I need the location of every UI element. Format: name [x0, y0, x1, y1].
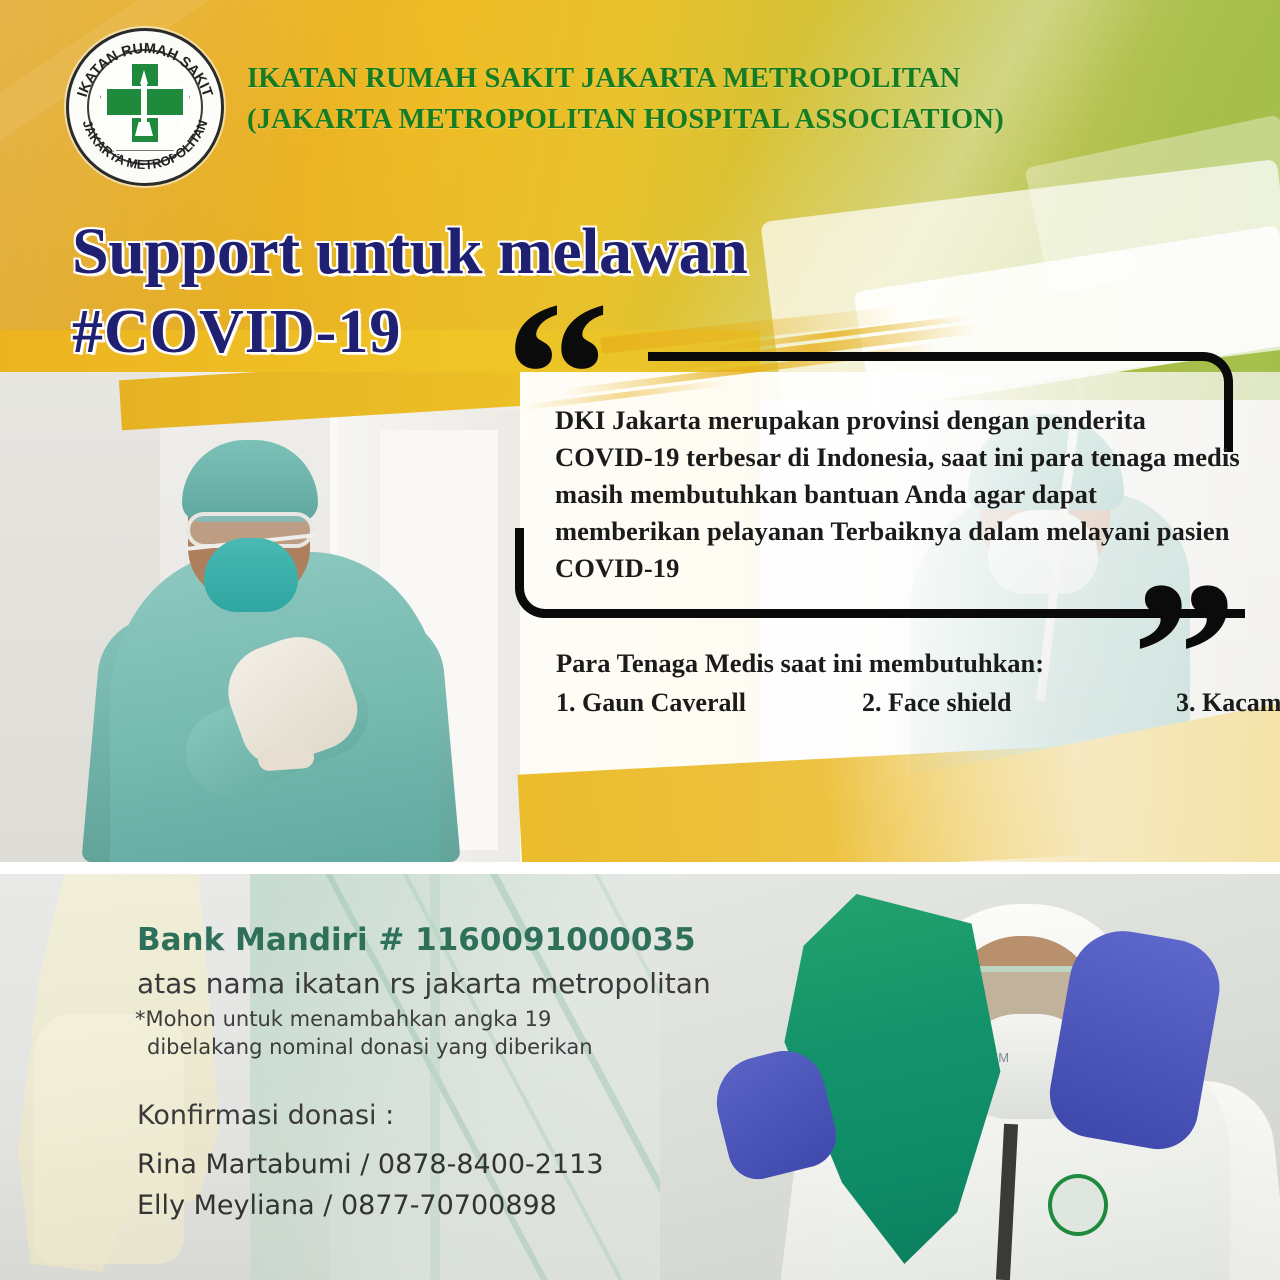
association-name-block: IKATAN RUMAH SAKIT JAKARTA METROPOLITAN … — [247, 58, 1067, 140]
quote-paragraph: DKI Jakarta merupakan provinsi dengan pe… — [555, 402, 1245, 587]
list-item: 2. Face shield — [862, 686, 1176, 719]
monas-monument-icon — [135, 68, 153, 140]
contact-person-1: Rina Martabumi / 0878-8400-2113 — [137, 1149, 604, 1180]
n95-mask-icon — [204, 538, 298, 612]
monas-shaft — [141, 82, 147, 124]
org-name-indonesian: IKATAN RUMAH SAKIT JAKARTA METROPOLITAN — [247, 58, 1067, 99]
list-item: 3. Kacamata gogle — [1176, 686, 1280, 719]
donation-poster: IKATAN RUMAH SAKIT JAKARTA METROPOLITAN … — [0, 0, 1280, 1280]
panel-divider — [0, 862, 1280, 874]
org-name-english: (JAKARTA METROPOLITAN HOSPITAL ASSOCIATI… — [247, 99, 1067, 140]
health-worker-donning-ppe-photo: 3M essity — [660, 874, 1280, 1280]
contact-person-2: Elly Meyliana / 0877-70700898 — [137, 1190, 557, 1221]
confirmation-label: Konfirmasi donasi : — [137, 1100, 394, 1131]
needs-list: 1. Gaun Caverall 2. Face shield 3. Kacam… — [556, 686, 1176, 719]
donation-note-line-2: dibelakang nominal donasi yang diberikan — [147, 1035, 593, 1059]
doctor-hand-on-heart-photo — [0, 372, 520, 868]
coverall-badge — [1048, 1174, 1108, 1236]
title-line-1: Support untuk melawan — [72, 215, 747, 289]
bank-account-line: Bank Mandiri # 1160091000035 — [137, 922, 696, 958]
monas-base — [135, 122, 153, 136]
top-panel: IKATAN RUMAH SAKIT JAKARTA METROPOLITAN … — [0, 0, 1280, 868]
needs-heading: Para Tenaga Medis saat ini membutuhkan: — [556, 648, 1044, 679]
list-item: 1. Gaun Caverall — [556, 686, 862, 719]
association-logo: IKATAN RUMAH SAKIT JAKARTA METROPOLITAN — [66, 28, 224, 186]
bank-account-name: atas nama ikatan rs jakarta metropolitan — [137, 967, 711, 1000]
surgical-cap-icon — [182, 440, 318, 522]
donation-note-line-1: *Mohon untuk menambahkan angka 19 — [135, 1007, 551, 1031]
